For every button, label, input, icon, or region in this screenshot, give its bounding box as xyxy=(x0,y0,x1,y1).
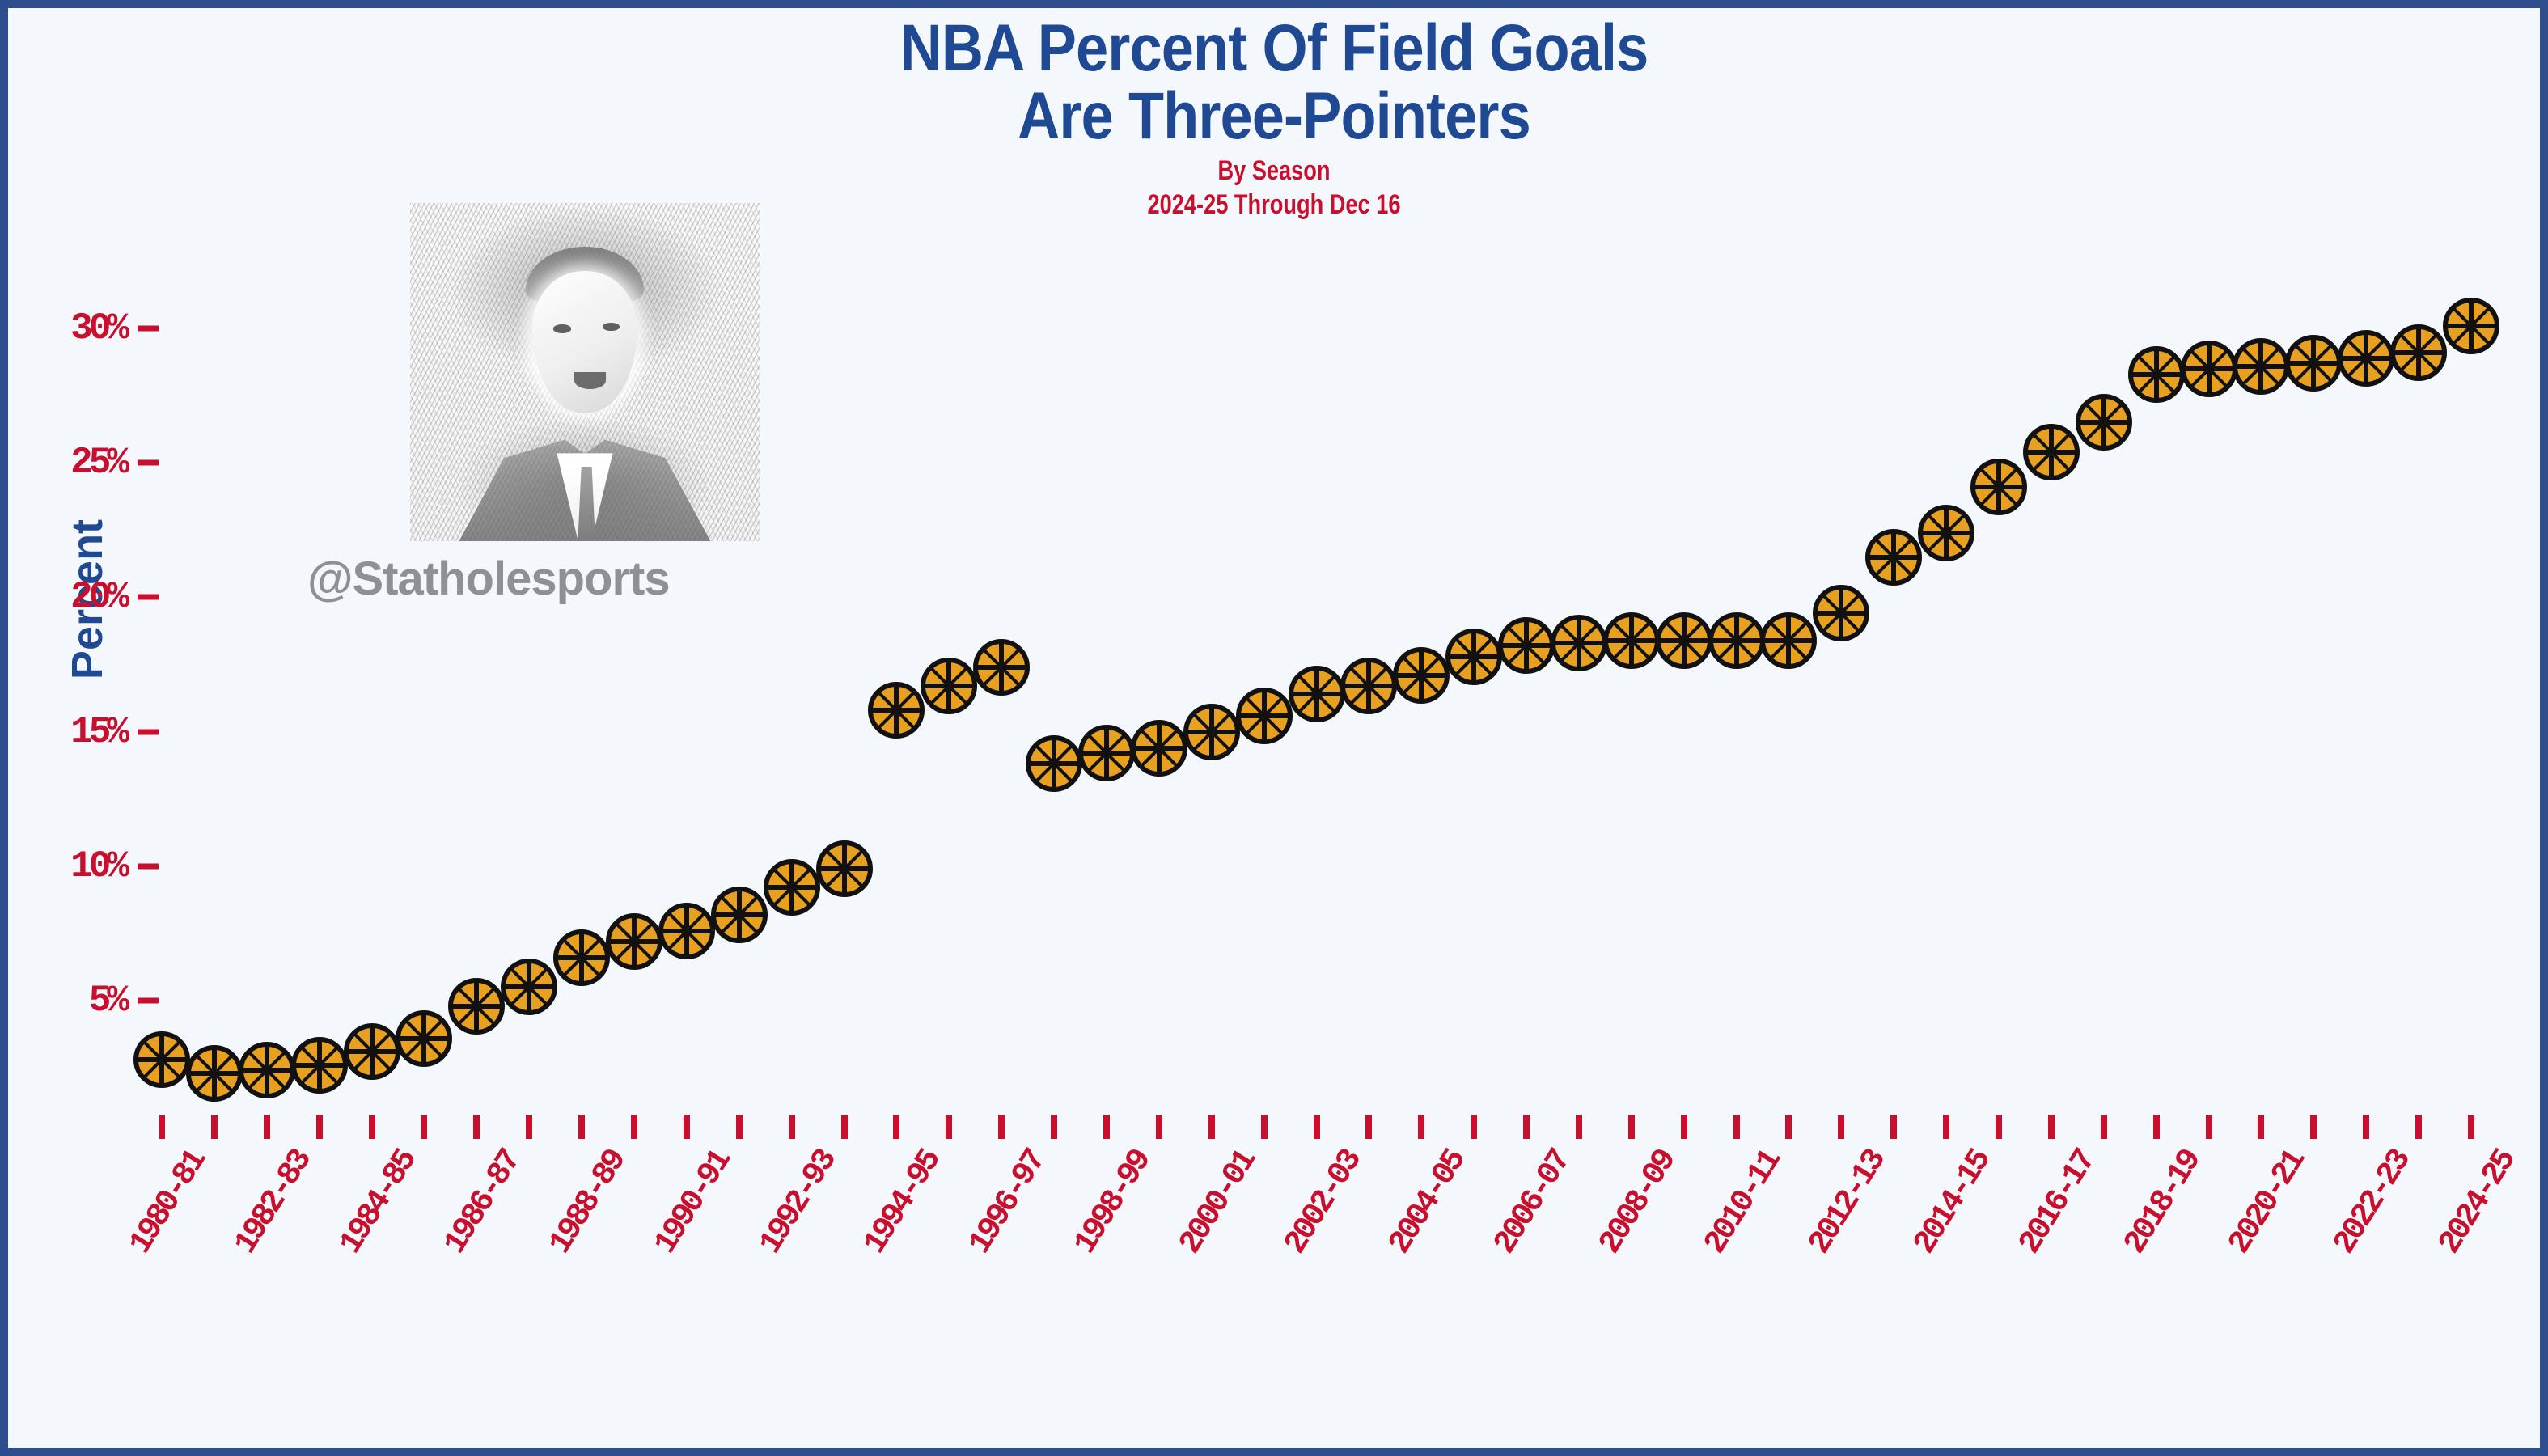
basketball-marker-icon xyxy=(2019,420,2084,485)
portrait-watermark-image xyxy=(410,203,760,541)
x-axis-tick-mark xyxy=(2415,1115,2422,1139)
basketball-marker-icon xyxy=(2228,334,2293,399)
y-axis-tick-label: 10% xyxy=(0,845,125,887)
portrait-suit xyxy=(459,440,710,541)
x-axis-tick-mark xyxy=(1365,1115,1372,1139)
basketball-marker-icon xyxy=(969,635,1034,700)
x-axis-tick-mark xyxy=(1785,1115,1792,1139)
basketball-marker-icon xyxy=(1389,643,1454,708)
portrait-tie xyxy=(578,467,595,541)
basketball-marker-icon xyxy=(602,909,667,974)
basketball-marker-icon xyxy=(1914,501,1979,565)
x-axis-tick-label: 1994-95 xyxy=(857,1145,948,1261)
x-axis-tick-label: 1992-93 xyxy=(752,1145,843,1261)
basketball-marker-icon xyxy=(1756,608,1821,673)
chart-title-line-2: Are Three-Pointers xyxy=(160,83,2388,150)
basketball-marker-icon xyxy=(812,836,877,901)
y-axis-tick-mark xyxy=(138,326,159,332)
y-axis-tick-mark xyxy=(138,863,159,869)
y-axis-tick-label: 30% xyxy=(0,307,125,349)
x-axis-tick-mark xyxy=(1051,1115,1057,1139)
x-axis-tick-mark xyxy=(736,1115,743,1139)
portrait-face xyxy=(532,271,637,413)
basketball-marker-icon xyxy=(2439,294,2504,358)
x-axis-tick-mark xyxy=(2468,1115,2474,1139)
basketball-marker-icon xyxy=(1861,525,1926,590)
x-axis-tick-label: 2004-05 xyxy=(1382,1145,1473,1261)
x-axis-tick-label: 2024-25 xyxy=(2432,1145,2523,1261)
basketball-marker-icon xyxy=(182,1041,247,1106)
x-axis-tick-mark xyxy=(159,1115,165,1139)
y-axis-tick-label: 15% xyxy=(0,711,125,753)
chart-title-line-1: NBA Percent Of Field Goals xyxy=(160,15,2388,83)
basketball-marker-icon xyxy=(2124,342,2189,407)
x-axis-tick-mark xyxy=(841,1115,848,1139)
x-axis-tick-label: 2002-03 xyxy=(1277,1145,1368,1261)
basketball-marker-icon xyxy=(1652,608,1716,673)
x-axis-tick-label: 1982-83 xyxy=(228,1145,319,1261)
x-axis-tick-mark xyxy=(1733,1115,1740,1139)
x-axis-tick-mark xyxy=(2101,1115,2107,1139)
basketball-marker-icon xyxy=(1179,700,1244,764)
x-axis-tick-mark xyxy=(1103,1115,1110,1139)
basketball-marker-icon xyxy=(2334,326,2398,391)
x-axis-tick-mark xyxy=(1471,1115,1477,1139)
x-axis-tick-mark xyxy=(1996,1115,2002,1139)
x-axis-tick-label: 2008-09 xyxy=(1593,1145,1683,1261)
y-axis-tick-mark xyxy=(138,595,159,600)
portrait-shirt xyxy=(557,453,612,541)
x-axis-tick-mark xyxy=(2048,1115,2055,1139)
x-axis-tick-label: 2016-17 xyxy=(2013,1145,2103,1261)
y-axis-tick-label: 5% xyxy=(0,980,125,1022)
basketball-marker-icon xyxy=(1547,611,1611,675)
x-axis-tick-label: 1986-87 xyxy=(438,1145,528,1261)
basketball-marker-icon xyxy=(1336,654,1401,718)
x-axis-tick-label: 2022-23 xyxy=(2327,1145,2418,1261)
x-axis-tick-mark xyxy=(1943,1115,1949,1139)
basketball-marker-icon xyxy=(549,925,614,990)
basketball-marker-icon xyxy=(235,1038,299,1103)
x-axis-tick-label: 1998-99 xyxy=(1068,1145,1158,1261)
basketball-marker-icon xyxy=(444,974,509,1039)
x-axis-tick-mark xyxy=(998,1115,1005,1139)
plot-area: 5%10%15%20%25%30%1980-811982-831984-8519… xyxy=(8,8,2548,1456)
y-axis-tick-mark xyxy=(138,729,159,734)
basketball-marker-icon xyxy=(1599,608,1664,673)
x-axis-tick-label: 2006-07 xyxy=(1488,1145,1578,1261)
x-axis-tick-mark xyxy=(526,1115,532,1139)
x-axis-tick-mark xyxy=(1523,1115,1530,1139)
x-axis-tick-mark xyxy=(1681,1115,1687,1139)
x-axis-tick-mark xyxy=(2153,1115,2160,1139)
basketball-marker-icon xyxy=(707,882,772,947)
basketball-marker-icon xyxy=(1127,716,1191,781)
x-axis-tick-label: 2010-11 xyxy=(1697,1145,1788,1261)
x-axis-tick-mark xyxy=(2258,1115,2264,1139)
basketball-marker-icon xyxy=(864,678,929,743)
subtitle-block: By Season 2024-25 Through Dec 16 xyxy=(8,154,2540,222)
basketball-marker-icon xyxy=(129,1027,194,1092)
chart-subtitle-line-2: 2024-25 Through Dec 16 xyxy=(261,188,2287,222)
x-axis-tick-mark xyxy=(893,1115,899,1139)
x-axis-tick-mark xyxy=(421,1115,427,1139)
x-axis-tick-mark xyxy=(946,1115,952,1139)
x-axis-tick-mark xyxy=(1838,1115,1844,1139)
basketball-marker-icon xyxy=(2177,336,2241,401)
portrait-smile xyxy=(574,372,606,389)
x-axis-tick-mark xyxy=(2310,1115,2317,1139)
title-block: NBA Percent Of Field Goals Are Three-Poi… xyxy=(8,15,2540,222)
basketball-marker-icon xyxy=(340,1019,404,1084)
basketball-marker-icon xyxy=(1494,613,1559,678)
basketball-marker-icon xyxy=(760,855,824,920)
x-axis-tick-mark xyxy=(1314,1115,1320,1139)
x-axis-tick-label: 1988-89 xyxy=(543,1145,633,1261)
x-axis-tick-mark xyxy=(1576,1115,1582,1139)
x-axis-tick-mark xyxy=(1261,1115,1268,1139)
basketball-marker-icon xyxy=(1966,455,2031,519)
basketball-marker-icon xyxy=(287,1033,352,1098)
y-axis-tick-mark xyxy=(138,460,159,466)
x-axis-tick-label: 1980-81 xyxy=(123,1145,214,1261)
basketball-marker-icon xyxy=(1704,608,1769,673)
x-axis-tick-label: 2018-19 xyxy=(2117,1145,2207,1261)
basketball-marker-icon xyxy=(392,1006,456,1071)
x-axis-tick-label: 2012-13 xyxy=(1802,1145,1893,1261)
x-axis-tick-mark xyxy=(1208,1115,1215,1139)
x-axis-tick-mark xyxy=(631,1115,637,1139)
x-axis-tick-mark xyxy=(1156,1115,1162,1139)
portrait-eye-left xyxy=(553,324,571,332)
x-axis-tick-mark xyxy=(473,1115,480,1139)
y-axis-tick-label: 25% xyxy=(0,442,125,484)
basketball-marker-icon xyxy=(1285,662,1349,726)
watermark-handle: @Statholesports xyxy=(307,552,670,606)
chart-subtitle-line-1: By Season xyxy=(261,154,2287,188)
x-axis-tick-mark xyxy=(578,1115,585,1139)
basketball-marker-icon xyxy=(2072,390,2136,455)
x-axis-tick-label: 2000-01 xyxy=(1173,1145,1263,1261)
y-axis-label: Percent xyxy=(62,478,112,721)
x-axis-tick-mark xyxy=(2363,1115,2369,1139)
chart-canvas: NBA Percent Of Field Goals Are Three-Poi… xyxy=(0,0,2548,1456)
portrait-hair xyxy=(526,247,645,301)
basketball-marker-icon xyxy=(916,654,981,718)
x-axis-tick-mark xyxy=(1628,1115,1635,1139)
y-axis-tick-mark xyxy=(138,998,159,1004)
basketball-marker-icon xyxy=(1022,731,1086,796)
basketball-marker-icon xyxy=(2281,331,2346,396)
x-axis-tick-mark xyxy=(684,1115,690,1139)
x-axis-tick-mark xyxy=(264,1115,270,1139)
basketball-marker-icon xyxy=(1441,624,1506,689)
x-axis-tick-mark xyxy=(789,1115,795,1139)
x-axis-tick-label: 1990-91 xyxy=(648,1145,739,1261)
x-axis-tick-mark xyxy=(316,1115,323,1139)
basketball-marker-icon xyxy=(2386,320,2451,385)
x-axis-tick-mark xyxy=(1418,1115,1424,1139)
x-axis-tick-label: 1984-85 xyxy=(332,1145,423,1261)
y-axis-tick-label: 20% xyxy=(0,576,125,618)
basketball-marker-icon xyxy=(497,954,561,1019)
basketball-marker-icon xyxy=(654,899,719,963)
x-axis-tick-label: 2014-15 xyxy=(1907,1145,1998,1261)
x-axis-tick-mark xyxy=(369,1115,375,1139)
x-axis-tick-label: 1996-97 xyxy=(963,1145,1053,1261)
x-axis-tick-mark xyxy=(211,1115,218,1139)
basketball-marker-icon xyxy=(1809,581,1873,645)
x-axis-tick-label: 2020-21 xyxy=(2222,1145,2313,1261)
basketball-marker-icon xyxy=(1232,684,1297,748)
x-axis-tick-mark xyxy=(2206,1115,2212,1139)
basketball-marker-icon xyxy=(1074,721,1139,785)
x-axis-tick-mark xyxy=(1890,1115,1897,1139)
portrait-eye-right xyxy=(603,323,620,331)
